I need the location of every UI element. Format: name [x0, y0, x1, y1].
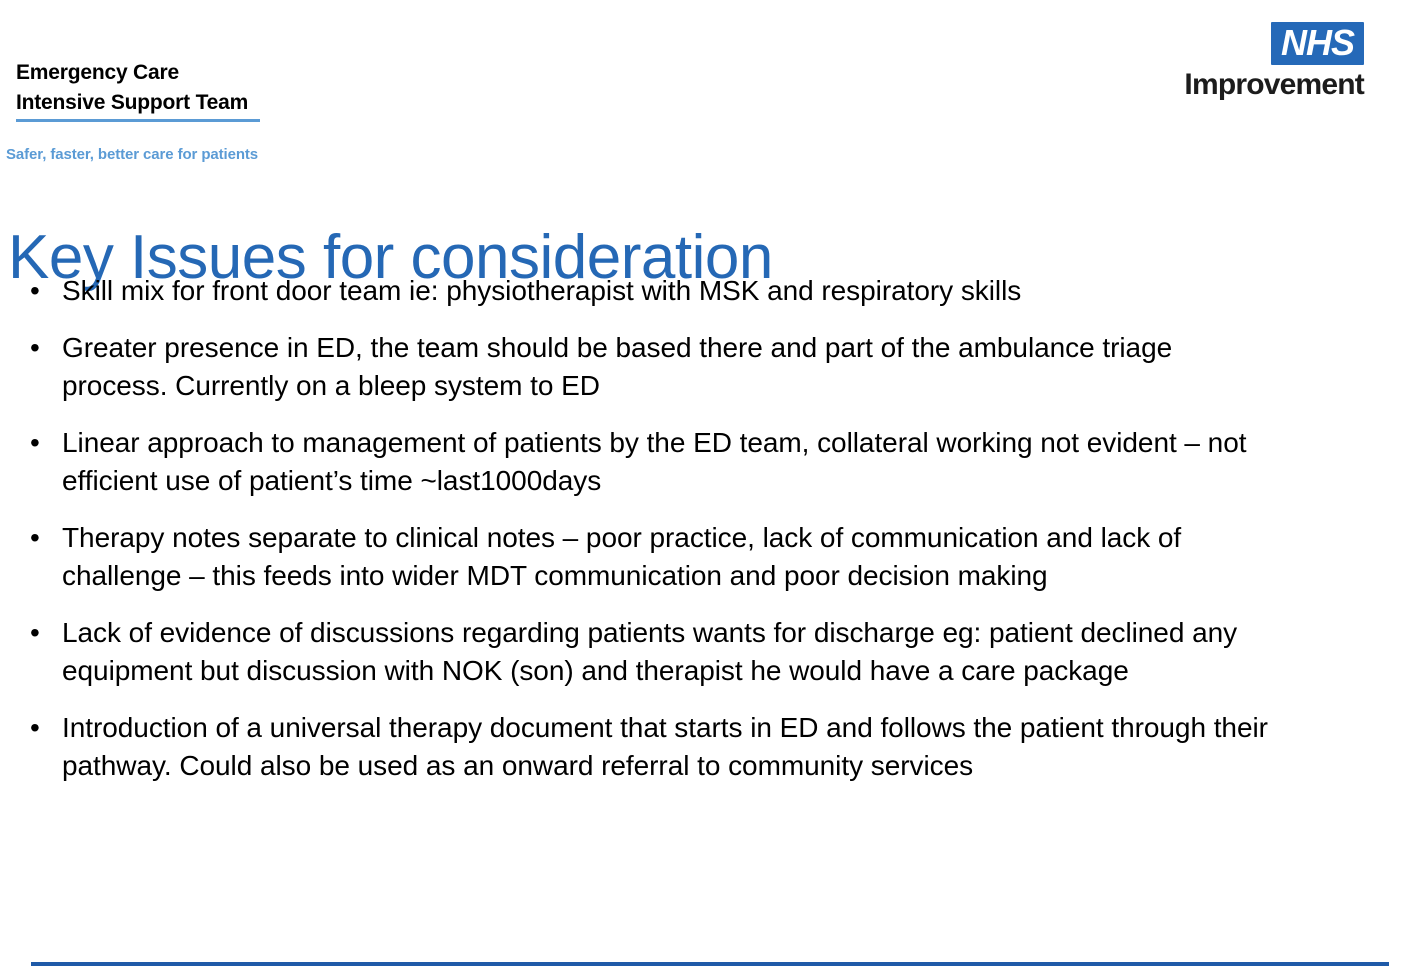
- list-item-text: Linear approach to management of patient…: [62, 424, 1272, 500]
- bullet-list: • Skill mix for front door team ie: phys…: [22, 272, 1272, 785]
- list-item-text: Skill mix for front door team ie: physio…: [62, 272, 1272, 310]
- nhs-logo-text: NHS: [1281, 24, 1354, 62]
- bullet-point-icon: •: [22, 272, 62, 310]
- list-item: • Skill mix for front door team ie: phys…: [22, 272, 1272, 310]
- bullet-point-icon: •: [22, 614, 62, 652]
- brand-line-intensive-support-team: Intensive Support Team: [16, 88, 260, 122]
- nhs-logo-box: NHS: [1271, 22, 1364, 65]
- list-item-text: Introduction of a universal therapy docu…: [62, 709, 1272, 785]
- list-item-text: Therapy notes separate to clinical notes…: [62, 519, 1272, 595]
- list-item: • Linear approach to management of patie…: [22, 424, 1272, 500]
- list-item-text: Lack of evidence of discussions regardin…: [62, 614, 1272, 690]
- list-item-text: Greater presence in ED, the team should …: [62, 329, 1272, 405]
- list-item: • Introduction of a universal therapy do…: [22, 709, 1272, 785]
- ecist-brand-block: Emergency Care Intensive Support Team: [16, 58, 436, 122]
- list-item: • Greater presence in ED, the team shoul…: [22, 329, 1272, 405]
- bullet-point-icon: •: [22, 519, 62, 557]
- nhs-improvement-logo: NHS Improvement: [1164, 22, 1364, 102]
- bullet-point-icon: •: [22, 329, 62, 367]
- list-item: • Therapy notes separate to clinical not…: [22, 519, 1272, 595]
- slide-canvas: Emergency Care Intensive Support Team Sa…: [0, 0, 1402, 972]
- footer-divider: [31, 962, 1389, 966]
- bullet-point-icon: •: [22, 709, 62, 747]
- brand-line-emergency-care: Emergency Care: [16, 58, 436, 88]
- list-item: • Lack of evidence of discussions regard…: [22, 614, 1272, 690]
- bullet-point-icon: •: [22, 424, 62, 462]
- brand-tagline: Safer, faster, better care for patients: [6, 146, 258, 163]
- nhs-logo-subtitle: Improvement: [1164, 68, 1364, 102]
